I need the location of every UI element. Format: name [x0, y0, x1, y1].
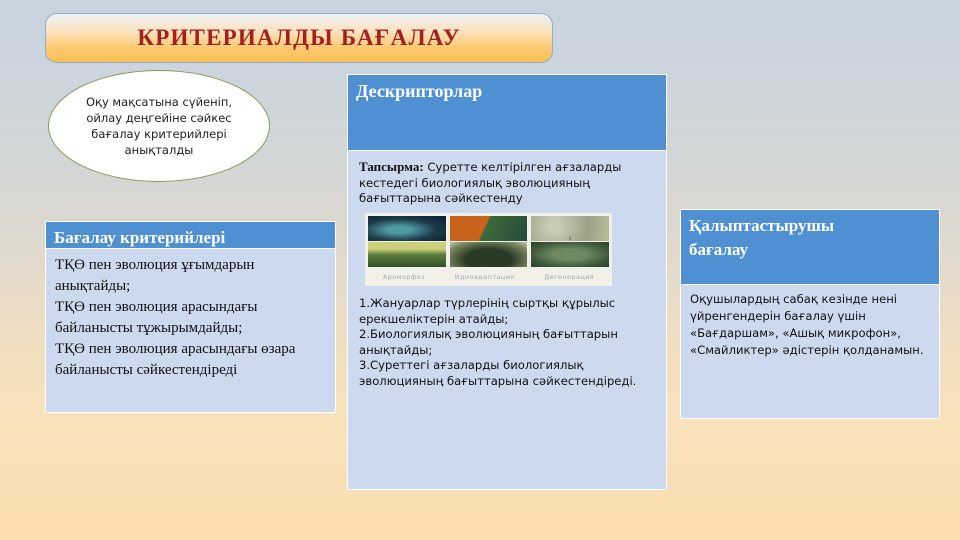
formative-assessment-panel: Қалыптастырушы бағалау Оқушылардың сабақ…: [680, 209, 940, 419]
organism-photo-caption: ғ: [569, 257, 571, 267]
slide-canvas: КРИТЕРИАЛДЫ БАҒАЛАУ Оқу мақсатына сүйені…: [0, 0, 960, 540]
organism-photo-gh: ғ: [531, 242, 609, 267]
organism-photo-g: г: [450, 242, 528, 267]
organism-photo-caption: г: [487, 257, 489, 267]
page-title: КРИТЕРИАЛДЫ БАҒАЛАУ: [137, 25, 460, 51]
learning-aim-ellipse: Оқу мақсатына сүйеніп, ойлау деңгейіне с…: [48, 70, 270, 182]
descriptors-body: Тапсырма: Суретте келтірілген ағзаларды …: [347, 151, 667, 490]
task-paragraph: Тапсырма: Суретте келтірілген ағзаларды …: [359, 159, 655, 207]
formative-assessment-body: Оқушылардың сабақ кезінде нені үйренгенд…: [680, 285, 940, 419]
organism-photo-a: а: [368, 216, 446, 241]
organism-photo-caption: а: [406, 231, 408, 241]
assessment-criteria-header: Бағалау критерийлері: [45, 221, 336, 249]
evolution-label-aromorphosis: Ароморфоз: [383, 270, 425, 286]
organism-photo-b: б: [531, 216, 609, 241]
organism-photo-caption: б: [569, 231, 571, 241]
assessment-criteria-panel: Бағалау критерийлері ТҚӨ пен эволюция ұғ…: [45, 221, 336, 413]
assessment-criteria-body: ТҚӨ пен эволюция ұғымдарын анықтайды; ТҚ…: [45, 249, 336, 413]
organism-photo-caption: в: [406, 257, 408, 267]
organism-photo-v: в: [368, 242, 446, 267]
descriptors-header: Дескрипторлар: [347, 74, 667, 151]
organism-photo-caption: ә: [487, 231, 489, 241]
organism-photo-ae: ә: [450, 216, 528, 241]
evolution-label-idioadaptation: Идиоадаптация: [455, 270, 515, 286]
slide-title-banner: КРИТЕРИАЛДЫ БАҒАЛАУ: [45, 13, 553, 63]
formative-assessment-header: Қалыптастырушы бағалау: [680, 209, 940, 285]
learning-aim-text: Оқу мақсатына сүйеніп, ойлау деңгейіне с…: [74, 94, 244, 158]
task-label: Тапсырма:: [359, 159, 424, 174]
evolution-direction-labels: Ароморфоз Идиоадаптация Дегенерация: [368, 270, 609, 286]
organism-figure: а ә б в г ғ Ароморфоз Идиоадаптация Деге…: [365, 213, 612, 287]
descriptors-panel: Дескрипторлар Тапсырма: Суретте келтіріл…: [347, 74, 667, 490]
evolution-label-degeneration: Дегенерация: [544, 270, 594, 286]
descriptor-list: 1.Жануарлар түрлерінің сыртқы құрылыс ер…: [359, 296, 655, 389]
organism-figure-grid: а ә б в г ғ: [368, 216, 609, 267]
